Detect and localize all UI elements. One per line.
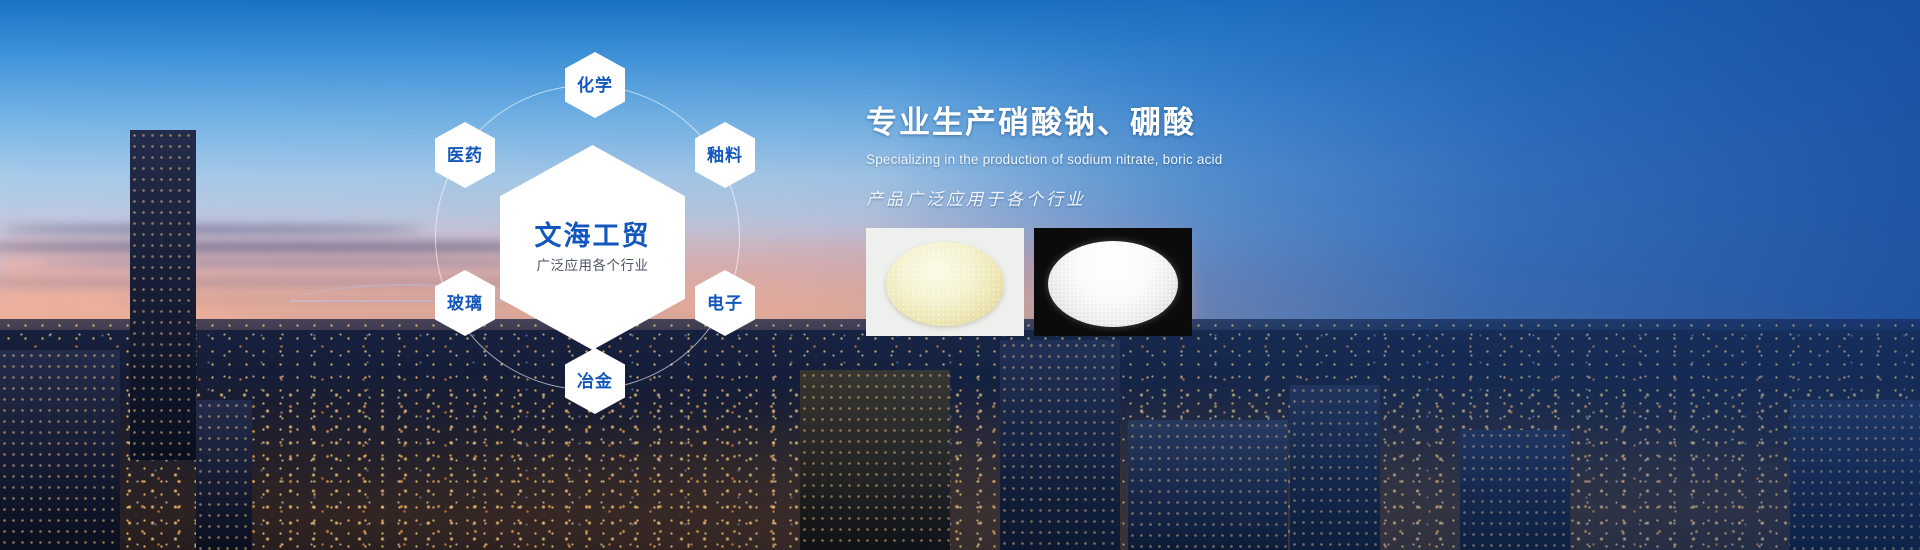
hex-electronics-label: 电子 (707, 295, 743, 312)
building-silhouette (800, 370, 950, 550)
headline: 专业生产硝酸钠、硼酸 (866, 104, 1506, 141)
building-silhouette (1290, 385, 1380, 550)
product-photo-sodium-nitrate[interactable] (866, 228, 1024, 336)
promo-banner: 化学 釉料 电子 冶金 玻璃 医药 文海工贸 广泛应用各个行业 专业生产硝酸钠、… (0, 0, 1920, 550)
hex-glass-label: 玻璃 (447, 295, 483, 312)
hex-pharmaceutical-label: 医药 (447, 147, 483, 164)
building-silhouette (1000, 340, 1120, 550)
product-photo-boric-acid[interactable] (1034, 228, 1192, 336)
headline-english: Specializing in the production of sodium… (866, 151, 1506, 169)
industry-hexagon-cluster: 化学 釉料 电子 冶金 玻璃 医药 文海工贸 广泛应用各个行业 (430, 30, 760, 450)
building-silhouette (0, 350, 120, 550)
company-name: 文海工贸 (535, 223, 651, 250)
powder-heap-white (1048, 241, 1178, 327)
hex-glaze-label: 釉料 (707, 147, 743, 164)
building-silhouette (1460, 430, 1570, 550)
product-photo-group (866, 228, 1192, 336)
city-lights-foreground (0, 385, 1920, 550)
cloud-streak (0, 226, 422, 233)
building-silhouette (130, 130, 196, 460)
hex-metallurgy-label: 冶金 (577, 373, 613, 390)
powder-heap-yellow (886, 242, 1004, 326)
banner-copy: 专业生产硝酸钠、硼酸 Specializing in the productio… (866, 104, 1506, 211)
building-silhouette (196, 400, 252, 550)
company-subtitle: 广泛应用各个行业 (537, 259, 649, 273)
building-silhouette (1128, 420, 1288, 550)
tagline: 产品广泛应用于各个行业 (866, 189, 1506, 211)
hex-chemical-label: 化学 (577, 77, 613, 94)
building-silhouette (1790, 400, 1920, 550)
